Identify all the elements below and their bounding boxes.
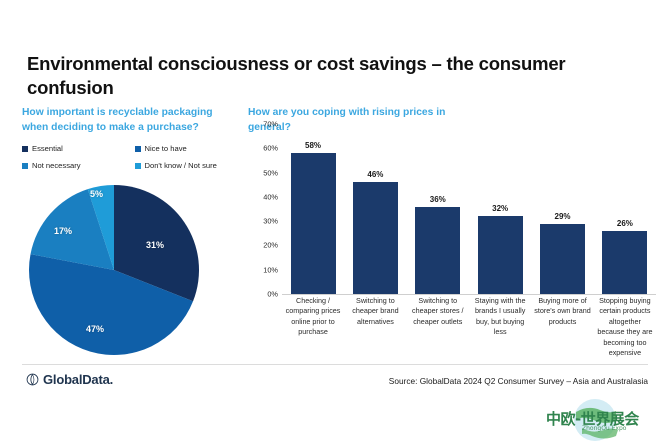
pie-chart-svg (28, 184, 200, 356)
x-axis-category-label: Switching to cheaper stores / cheaper ou… (407, 296, 469, 359)
x-axis-category-label: Checking / comparing prices online prior… (282, 296, 344, 359)
x-axis-category-label: Staying with the brands I usually buy, b… (469, 296, 531, 359)
pie-label-dont-know: 5% (90, 189, 103, 199)
bar-value-label: 32% (478, 204, 523, 213)
bar-slot: 26% (594, 124, 656, 294)
footer-divider (22, 364, 648, 365)
x-axis-category-label: Buying more of store's own brand product… (532, 296, 594, 359)
source-note: Source: GlobalData 2024 Q2 Consumer Surv… (389, 376, 648, 386)
legend-swatch-icon (22, 146, 28, 152)
bar[interactable]: 36% (415, 207, 460, 294)
globaldata-logo-icon (26, 373, 39, 386)
legend-label: Don't know / Not sure (145, 161, 217, 170)
bar[interactable]: 46% (353, 182, 398, 294)
page-title: Environmental consciousness or cost savi… (27, 52, 627, 99)
x-axis-labels: Checking / comparing prices online prior… (282, 296, 656, 359)
legend-label: Nice to have (145, 144, 187, 153)
bar-slot: 32% (469, 124, 531, 294)
brand-name: GlobalData. (43, 372, 113, 387)
bar[interactable]: 58% (291, 153, 336, 294)
legend-swatch-icon (22, 163, 28, 169)
bar-slot: 36% (407, 124, 469, 294)
x-axis-category-label: Stopping buying certain products altoget… (594, 296, 656, 359)
slide-canvas: Environmental consciousness or cost savi… (0, 0, 670, 447)
bar-value-label: 26% (602, 219, 647, 228)
y-axis-tick: 10% (263, 265, 278, 274)
pie-label-nice-to-have: 47% (86, 324, 104, 334)
bar[interactable]: 26% (602, 231, 647, 294)
legend-label: Not necessary (32, 161, 81, 170)
pie-label-essential: 31% (146, 240, 164, 250)
legend-item-nice-to-have: Nice to have (135, 144, 248, 153)
bar-value-label: 58% (291, 141, 336, 150)
bar-slot: 58% (282, 124, 344, 294)
x-axis-category-label: Switching to cheaper brand alternatives (344, 296, 406, 359)
bar-chart: 0%10%20%30%40%50%60%70% 58%46%36%32%29%2… (248, 124, 656, 294)
bar[interactable]: 29% (540, 224, 585, 294)
y-axis-tick: 40% (263, 192, 278, 201)
legend-item-not-necessary: Not necessary (22, 161, 135, 170)
pie-chart-heading: How important is recyclable packaging wh… (22, 106, 237, 135)
bar-value-label: 46% (353, 170, 398, 179)
bar-value-label: 36% (415, 195, 460, 204)
watermark: 中欧-世界展会 ZhongOu Expo (536, 398, 654, 442)
legend-item-dont-know: Don't know / Not sure (135, 161, 248, 170)
y-axis-tick: 50% (263, 168, 278, 177)
bar-slot: 46% (344, 124, 406, 294)
y-axis-tick: 60% (263, 144, 278, 153)
watermark-subtext: ZhongOu Expo (582, 425, 626, 432)
y-axis-tick: 70% (263, 120, 278, 129)
legend-label: Essential (32, 144, 63, 153)
bar-slot: 29% (532, 124, 594, 294)
legend-item-essential: Essential (22, 144, 135, 153)
pie-label-not-necessary: 17% (54, 226, 72, 236)
brand-logo: GlobalData. (26, 372, 113, 387)
y-axis-tick: 0% (267, 290, 278, 299)
legend-swatch-icon (135, 163, 141, 169)
y-axis-tick: 30% (263, 217, 278, 226)
pie-chart-panel: How important is recyclable packaging wh… (22, 106, 242, 135)
y-axis: 0%10%20%30%40%50%60%70% (248, 124, 278, 294)
legend-swatch-icon (135, 146, 141, 152)
pie-legend: Essential Nice to have Not necessary Don… (22, 144, 247, 178)
bar-value-label: 29% (540, 212, 585, 221)
bar-plot-area: 58%46%36%32%29%26% (282, 124, 656, 295)
pie-chart: 31% 47% 17% 5% (28, 184, 200, 356)
y-axis-tick: 20% (263, 241, 278, 250)
bar[interactable]: 32% (478, 216, 523, 294)
